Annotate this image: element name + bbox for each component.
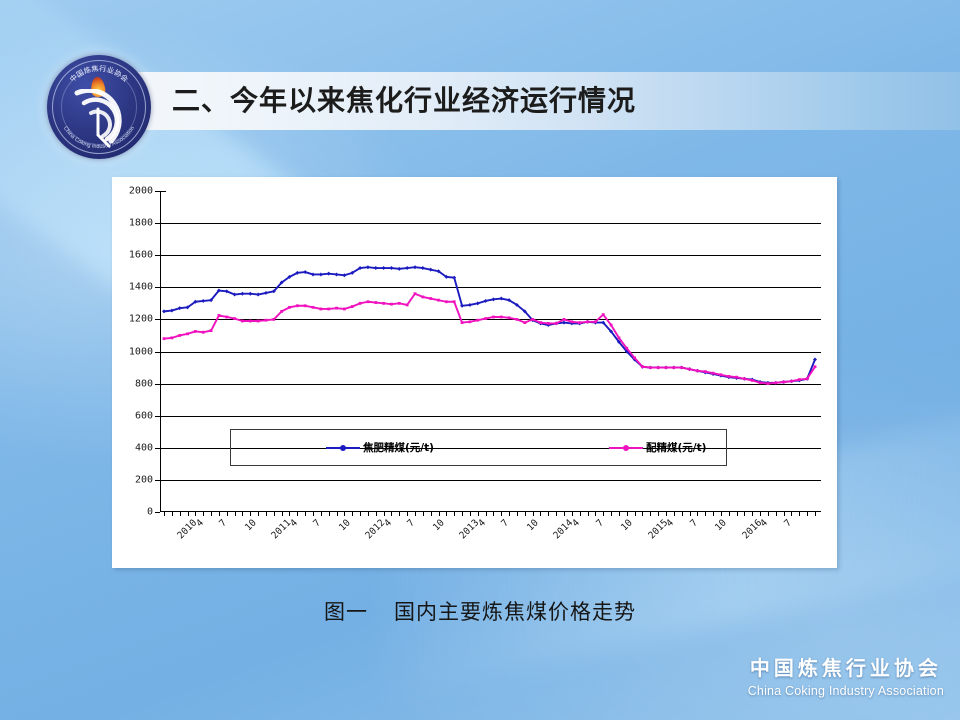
y-tick-label-2000: 2000 <box>129 186 153 197</box>
x-tick-label-7-6: 7 <box>217 517 229 529</box>
x-tick-label-10-9: 10 <box>243 517 259 533</box>
page-title: 二、今年以来焦化行业经济运行情况 <box>172 79 636 119</box>
legend-item-jiaofei-jingmei: 焦肥精煤(元/t) <box>326 440 434 455</box>
legend-label: 焦肥精煤(元/t) <box>363 440 434 455</box>
figure-caption: 图一国内主要炼焦煤价格走势 <box>0 596 960 626</box>
y-tick-label-800: 800 <box>135 378 153 389</box>
association-logo: 中国炼焦行业协会 China Coking Industry Associati… <box>47 55 151 159</box>
x-tick-label-7-78: 7 <box>782 517 794 529</box>
x-tick-label-10-57: 10 <box>619 517 635 533</box>
y-tick-label-0: 0 <box>147 507 153 518</box>
chart-panel: 0200400600800100012001400160018002000 20… <box>112 177 837 568</box>
figure-title: 国内主要炼焦煤价格走势 <box>394 600 636 624</box>
footer-watermark: 中国炼焦行业协会 China Coking Industry Associati… <box>748 652 944 698</box>
x-tick-label-7-66: 7 <box>688 517 700 529</box>
legend-marker-icon <box>609 443 643 453</box>
x-tick-label-10-21: 10 <box>337 517 353 533</box>
y-tick-label-1600: 1600 <box>129 250 153 261</box>
legend-marker-icon <box>326 443 360 453</box>
x-tick-label-10-69: 10 <box>713 517 729 533</box>
x-tick-label-10-45: 10 <box>525 517 541 533</box>
footer-org-en: China Coking Industry Association <box>748 684 944 698</box>
y-tick-label-1400: 1400 <box>129 282 153 293</box>
logo-wave-icon <box>67 89 131 151</box>
footer-org-cn: 中国炼焦行业协会 <box>748 652 944 681</box>
chart-legend: 焦肥精煤(元/t)配精煤(元/t) <box>230 429 727 466</box>
y-tick-label-600: 600 <box>135 410 153 421</box>
slide-canvas: 中国炼焦行业协会 China Coking Industry Associati… <box>0 0 960 720</box>
x-tick-label-7-18: 7 <box>311 517 323 529</box>
x-axis-labels-layer: 2010471020114710201247102013471020144710… <box>160 512 821 566</box>
y-tick-label-1800: 1800 <box>129 218 153 229</box>
x-tick-label-7-30: 7 <box>406 517 418 529</box>
series-pei-jingmei <box>163 292 817 385</box>
series-jiaofei-jingmei <box>162 265 817 385</box>
x-tick-label-7-42: 7 <box>500 517 512 529</box>
y-tick-label-1200: 1200 <box>129 314 153 325</box>
x-tick-label-7-54: 7 <box>594 517 606 529</box>
y-tick-label-200: 200 <box>135 474 153 485</box>
y-tick-label-1000: 1000 <box>129 346 153 357</box>
legend-item-pei-jingmei: 配精煤(元/t) <box>609 440 706 455</box>
x-tick-label-10-33: 10 <box>431 517 447 533</box>
legend-label: 配精煤(元/t) <box>646 440 706 455</box>
y-tick-label-400: 400 <box>135 442 153 453</box>
figure-number: 图一 <box>324 600 368 624</box>
